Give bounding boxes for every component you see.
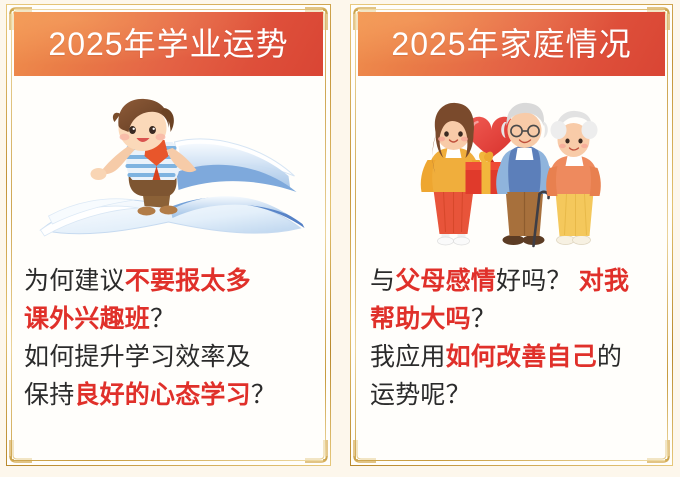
text-run: 为何建议 xyxy=(24,267,125,295)
card-header-band: 2025年家庭情况 xyxy=(358,12,665,76)
card-academic-fortune[interactable]: 2025年学业运势 xyxy=(6,4,331,466)
question-line: 运势呢？ xyxy=(370,376,659,414)
card-header-band: 2025年学业运势 xyxy=(14,12,323,76)
card-question-text: 与父母感情好吗？ 对我 帮助大吗？ 我应用如何改善自己的 运势呢？ xyxy=(370,262,659,414)
card-family-situation[interactable]: 2025年家庭情况 xyxy=(350,4,673,466)
text-run: 的 xyxy=(597,343,622,371)
text-run: 与 xyxy=(370,267,395,295)
text-run: 保持 xyxy=(24,381,74,409)
question-line: 保持良好的心态学习？ xyxy=(24,376,317,414)
question-line: 如何提升学习效率及 xyxy=(24,338,317,376)
question-line: 与父母感情好吗？ 对我 xyxy=(370,262,659,300)
text-run: ？ xyxy=(471,305,496,333)
card-question-text: 为何建议不要报太多 课外兴趣班？ 如何提升学习效率及 保持良好的心态学习？ xyxy=(24,262,317,414)
corner-ornament-icon xyxy=(304,439,330,465)
illustration-child-on-book xyxy=(16,80,321,250)
text-run: 运势呢？ xyxy=(370,381,471,409)
card-title: 2025年学业运势 xyxy=(48,28,288,60)
text-run-highlight: 对我 xyxy=(579,267,629,295)
text-run: 好吗？ xyxy=(496,267,579,295)
figure-grandmother xyxy=(546,111,601,245)
question-line: 我应用如何改善自己的 xyxy=(370,338,659,376)
text-run-highlight: 帮助大吗 xyxy=(370,305,471,333)
question-line: 帮助大吗？ xyxy=(370,300,659,338)
text-run-highlight: 良好的心态学习 xyxy=(74,381,250,409)
question-line: 课外兴趣班？ xyxy=(24,300,317,338)
text-run: 我应用 xyxy=(370,343,446,371)
corner-ornament-icon xyxy=(7,439,33,465)
text-run-highlight: 父母感情 xyxy=(395,267,496,295)
corner-ornament-icon xyxy=(646,439,672,465)
text-run: ？ xyxy=(251,381,276,409)
text-run-highlight: 课外兴趣班 xyxy=(24,305,150,333)
text-run: 如何提升学习效率及 xyxy=(24,343,251,371)
text-run-highlight: 不要报太多 xyxy=(125,267,251,295)
illustration-family-gift xyxy=(360,80,663,250)
text-run-highlight: 如何改善自己 xyxy=(446,343,597,371)
card-title: 2025年家庭情况 xyxy=(391,28,631,60)
cards-board: 2025年学业运势 xyxy=(0,0,680,477)
figure-grandfather xyxy=(496,103,553,246)
corner-ornament-icon xyxy=(351,439,377,465)
text-run: ？ xyxy=(150,305,175,333)
question-line: 为何建议不要报太多 xyxy=(24,262,317,300)
